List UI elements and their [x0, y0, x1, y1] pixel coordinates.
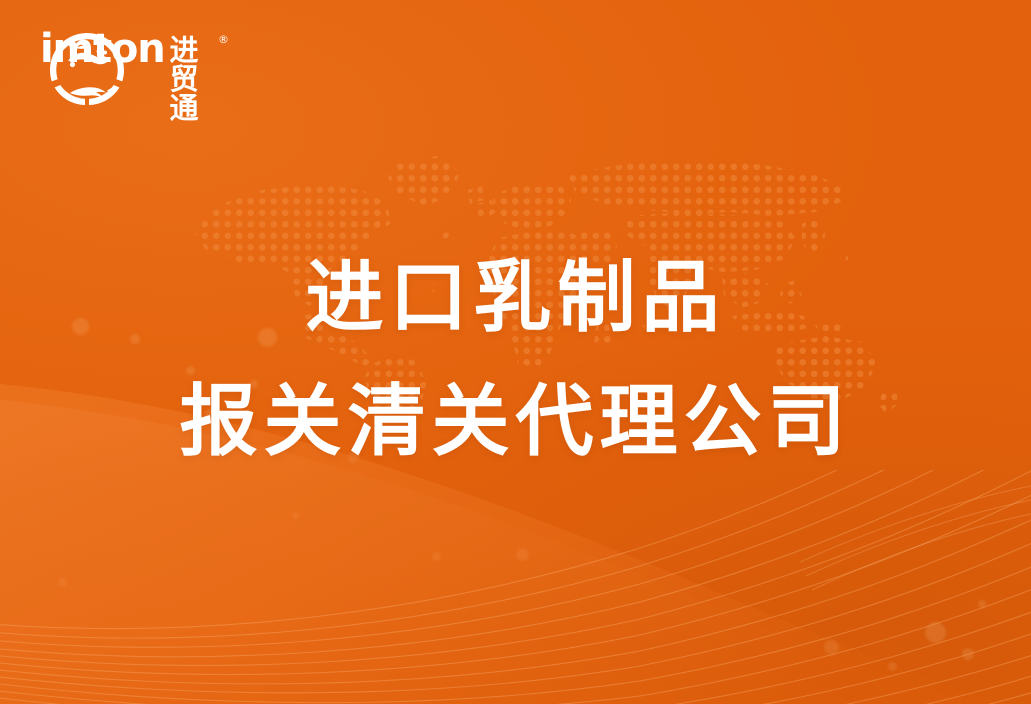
logo-chinese-text: 进贸通 — [169, 36, 217, 123]
logo-english-text: imton — [40, 29, 164, 69]
imton-logo[interactable]: imton 进贸通 ® — [38, 27, 228, 105]
headline-line-2: 报关清关代理公司 — [0, 360, 1031, 484]
headline: 进口乳制品 报关清关代理公司 — [0, 236, 1031, 484]
promo-banner: imton 进贸通 ® 进口乳制品 报关清关代理公司 — [0, 0, 1031, 704]
registered-trademark-icon: ® — [218, 34, 229, 45]
headline-line-1: 进口乳制品 — [0, 236, 1031, 360]
